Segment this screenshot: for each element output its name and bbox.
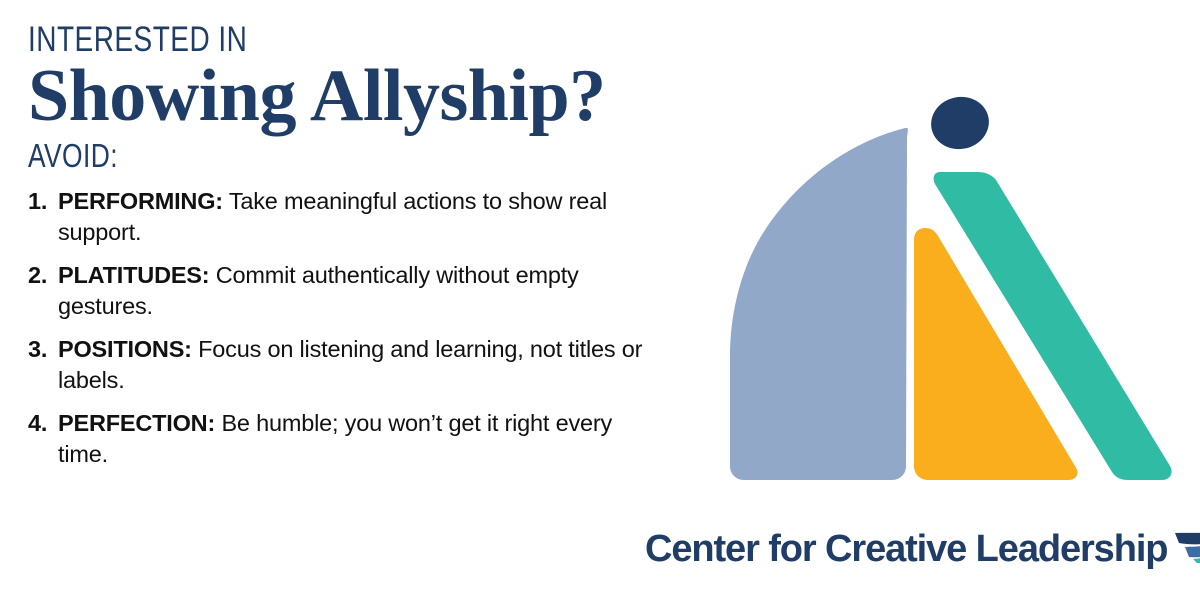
navy-head-shape [926, 92, 994, 155]
list-item-label: PERFORMING: [58, 188, 223, 214]
list-item-number: 2. [28, 260, 47, 291]
list-item-label: PERFECTION: [58, 410, 215, 436]
eyebrow-text: INTERESTED IN [28, 22, 524, 57]
avoid-list: 1.PERFORMING: Take meaningful actions to… [28, 186, 648, 469]
list-item-number: 4. [28, 408, 47, 439]
logo-wordmark: Center for Creative Leadership [645, 530, 1167, 568]
list-item-label: PLATITUDES: [58, 262, 209, 288]
page-title: Showing Allyship? [28, 59, 648, 133]
list-item: 4.PERFECTION: Be humble; you won’t get i… [28, 408, 648, 469]
list-item-number: 3. [28, 334, 47, 365]
sailboat-illustration [700, 80, 1190, 490]
poster-canvas: INTERESTED IN Showing Allyship? AVOID: 1… [0, 0, 1200, 600]
list-item: 2.PLATITUDES: Commit authentically witho… [28, 260, 648, 321]
ccl-swoosh-icon [1173, 517, 1200, 570]
text-column: INTERESTED IN Showing Allyship? AVOID: 1… [28, 22, 648, 482]
swoosh-navy-stroke [1175, 519, 1200, 544]
ccl-logo: Center for Creative Leadership [645, 518, 1185, 580]
list-item: 3.POSITIONS: Focus on listening and lear… [28, 334, 648, 395]
list-item-label: POSITIONS: [58, 336, 192, 362]
section-label-avoid: AVOID: [28, 139, 524, 172]
gray-sail-shape [730, 128, 908, 480]
list-item-number: 1. [28, 186, 47, 217]
list-item: 1.PERFORMING: Take meaningful actions to… [28, 186, 648, 247]
